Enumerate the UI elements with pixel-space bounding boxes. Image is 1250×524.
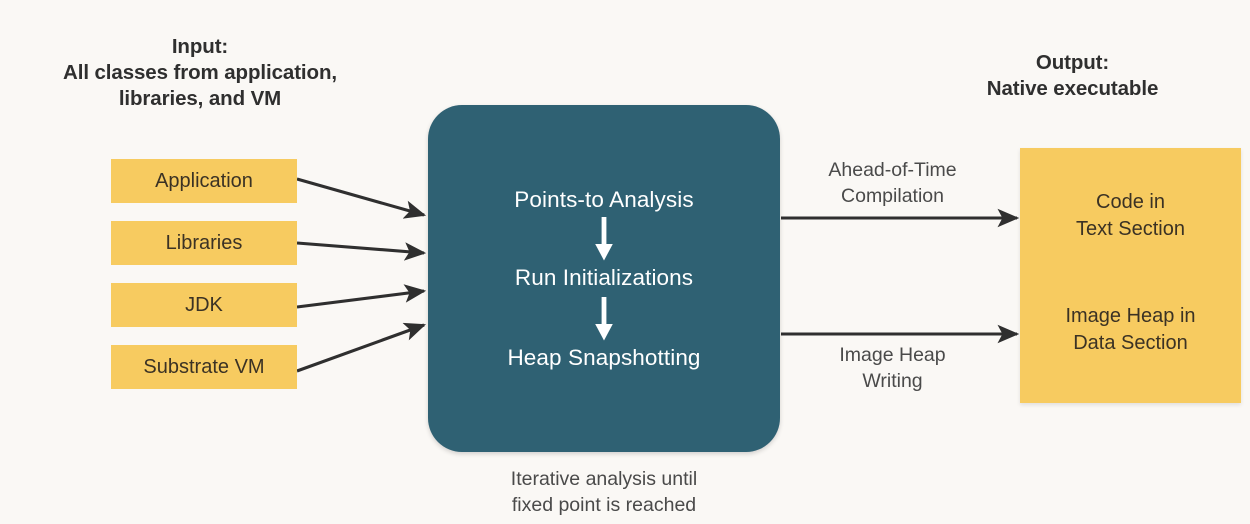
connector-jdk-to-process [297, 291, 424, 307]
output-entry-line-2: Text Section [1020, 216, 1241, 243]
input-box-label: Substrate VM [143, 356, 264, 379]
output-box-native-executable[interactable]: Code in Text Section Image Heap in Data … [1020, 148, 1241, 403]
connector-application-to-process [297, 179, 424, 215]
edge-label-image-heap-writing: Image Heap Writing [790, 343, 995, 394]
process-caption-line-1: Iterative analysis until [428, 466, 780, 492]
output-entry-line-2: Data Section [1020, 330, 1241, 357]
input-box-label: JDK [185, 294, 223, 317]
process-caption-line-2: fixed point is reached [428, 492, 780, 518]
edge-label-line-2: Compilation [790, 184, 995, 210]
input-box-substrate-vm[interactable]: Substrate VM [111, 345, 297, 389]
connector-substratevm-to-process [297, 325, 424, 371]
input-heading-line-2: All classes from application, [0, 60, 400, 86]
input-box-jdk[interactable]: JDK [111, 283, 297, 327]
output-entry-image-heap-in-data-section: Image Heap in Data Section [1020, 303, 1241, 357]
output-heading: Output: Native executable [900, 50, 1245, 102]
output-entry-line-1: Image Heap in [1020, 303, 1241, 330]
edge-label-line-1: Image Heap [790, 343, 995, 369]
arrow-down-icon [593, 217, 615, 261]
input-heading-line-1: Input: [0, 34, 400, 60]
input-box-application[interactable]: Application [111, 159, 297, 203]
output-entry-line-1: Code in [1020, 189, 1241, 216]
process-stage-heap-snapshotting: Heap Snapshotting [428, 345, 780, 371]
process-caption: Iterative analysis until fixed point is … [428, 466, 780, 518]
process-stage-run-initializations: Run Initializations [428, 265, 780, 291]
edge-label-ahead-of-time-compilation: Ahead-of-Time Compilation [790, 158, 995, 209]
input-heading: Input: All classes from application, lib… [0, 34, 400, 113]
connector-libraries-to-process [297, 243, 424, 253]
edge-label-line-2: Writing [790, 369, 995, 395]
output-heading-line-2: Native executable [900, 76, 1245, 102]
diagram-canvas: Input: All classes from application, lib… [0, 0, 1250, 524]
arrow-down-icon [593, 297, 615, 341]
edge-label-line-1: Ahead-of-Time [790, 158, 995, 184]
output-heading-line-1: Output: [900, 50, 1245, 76]
input-box-libraries[interactable]: Libraries [111, 221, 297, 265]
process-box[interactable]: Points-to Analysis Run Initializations H… [428, 105, 780, 452]
input-heading-line-3: libraries, and VM [0, 86, 400, 112]
input-box-label: Libraries [166, 232, 243, 255]
process-stage-points-to-analysis: Points-to Analysis [428, 187, 780, 213]
input-box-label: Application [155, 170, 253, 193]
output-entry-code-in-text-section: Code in Text Section [1020, 189, 1241, 243]
